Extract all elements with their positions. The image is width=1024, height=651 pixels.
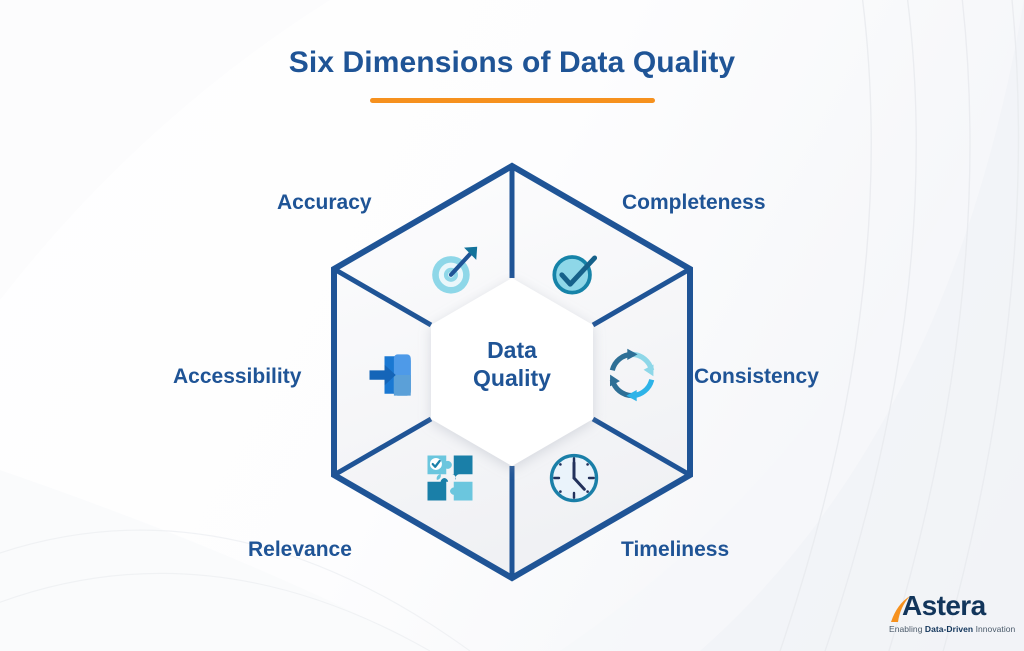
astera-logo: Astera Enabling Data-Driven Innovation [888, 594, 1008, 640]
puzzle-pieces-icon [420, 448, 480, 508]
refresh-cycle-icon [602, 345, 662, 405]
dimension-label-relevance: Relevance [248, 538, 352, 562]
dimension-label-accuracy: Accuracy [277, 191, 372, 215]
dimension-label-consistency: Consistency [694, 365, 819, 389]
center-label-line1: Data [432, 336, 592, 364]
logo-tagline-bold: Data-Driven [925, 624, 973, 634]
dimension-label-completeness: Completeness [622, 191, 766, 215]
center-label-line2: Quality [432, 364, 592, 392]
infographic-canvas: Six Dimensions of Data Quality [0, 0, 1024, 651]
title-block: Six Dimensions of Data Quality [0, 46, 1024, 103]
title-underline-rule [370, 98, 655, 103]
door-arrow-icon [362, 345, 422, 405]
logo-tagline-prefix: Enabling [889, 624, 925, 634]
logo-tagline: Enabling Data-Driven Innovation [889, 624, 1015, 634]
dimension-label-timeliness: Timeliness [621, 538, 729, 562]
target-arrow-icon [420, 242, 480, 302]
logo-text: Astera [902, 592, 986, 620]
dimension-label-accessibility: Accessibility [173, 365, 301, 389]
logo-wordmark: Astera [888, 594, 1008, 624]
hexagon-diagram: Data Quality [312, 160, 712, 590]
check-circle-icon [544, 242, 604, 302]
center-label: Data Quality [432, 336, 592, 392]
clock-icon [544, 448, 604, 508]
logo-tagline-suffix: Innovation [973, 624, 1015, 634]
page-title: Six Dimensions of Data Quality [0, 46, 1024, 79]
